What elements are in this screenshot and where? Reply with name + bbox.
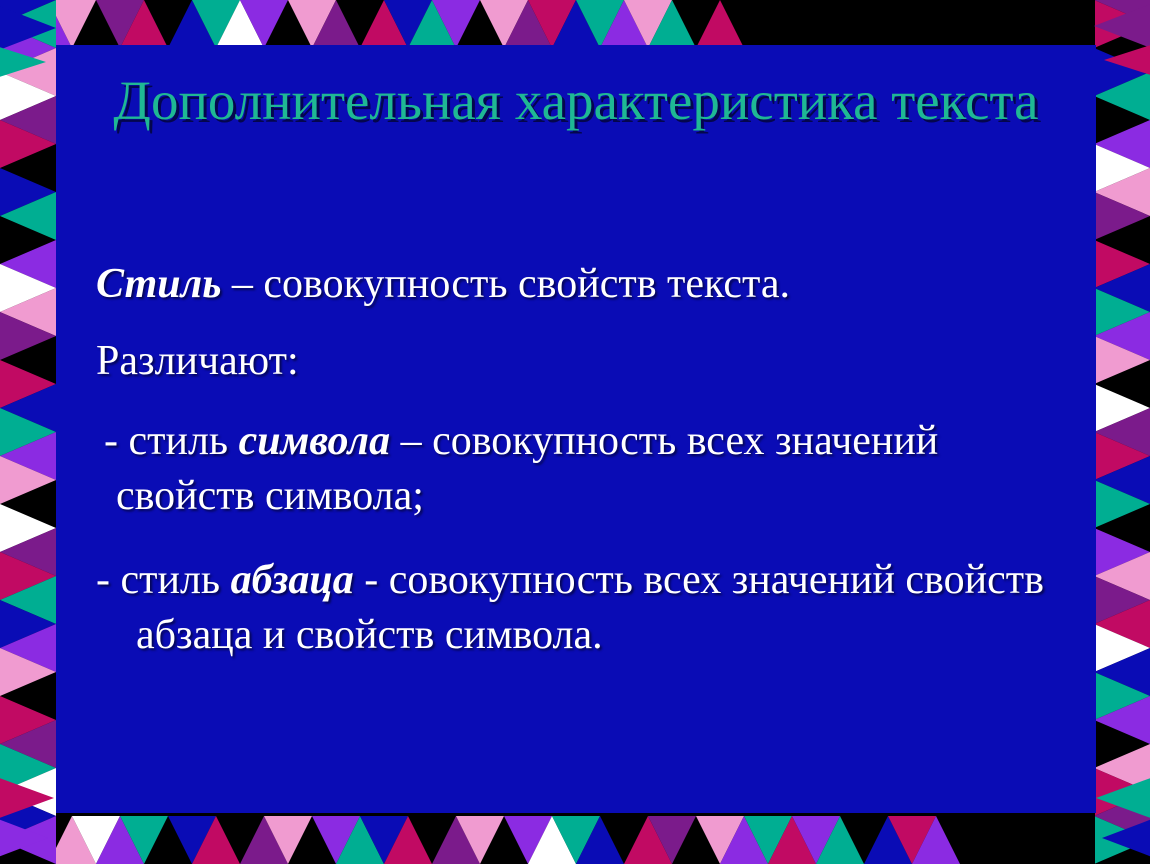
border-triangle-bottom-28	[648, 816, 696, 864]
slide-content-panel: Дополнительная характеристика текста Сти…	[56, 45, 1096, 813]
definition-line: Стиль – совокупность свойств текста.	[96, 257, 1056, 312]
corner-accent-bottom-left	[0, 776, 54, 820]
border-triangle-right-4	[1095, 72, 1150, 120]
border-triangle-bottom-17	[384, 816, 432, 864]
border-band-right	[1095, 0, 1150, 864]
corner-accent-bottom-right	[1096, 776, 1150, 820]
bullet1-prefix: - стиль	[104, 418, 239, 464]
corner-accent-bottom-right-2	[1102, 816, 1150, 860]
border-band-top	[0, 0, 1150, 48]
border-triangle-top-30	[696, 0, 744, 48]
border-triangle-right-21	[1095, 480, 1150, 528]
border-triangle-right-30	[1095, 696, 1150, 744]
border-triangle-bottom-25	[576, 816, 624, 864]
border-triangle-bottom-9	[192, 816, 240, 864]
border-triangle-bottom-12	[264, 816, 312, 864]
bullet1-term: символа	[239, 418, 391, 464]
border-triangle-left-14	[0, 312, 56, 360]
border-triangle-top-19	[432, 0, 480, 48]
border-triangle-left-28	[0, 648, 56, 696]
border-triangle-top-14	[312, 0, 360, 48]
slide-body: Стиль – совокупность свойств текста. Раз…	[56, 257, 1096, 677]
slide-title: Дополнительная характеристика текста	[56, 67, 1096, 134]
bullet2-prefix: - стиль	[96, 557, 231, 603]
border-triangle-top-11	[240, 0, 288, 48]
bullet2-term: абзаца	[231, 557, 354, 603]
presentation-slide: Дополнительная характеристика текста Сти…	[0, 0, 1150, 864]
border-triangle-left-6	[0, 120, 56, 168]
corner-accent-top-right-2	[1104, 42, 1150, 78]
border-triangle-left-9	[0, 192, 56, 240]
border-triangle-right-15	[1095, 336, 1150, 384]
border-band-left	[0, 0, 56, 864]
intro-line: Различают:	[96, 334, 1056, 389]
corner-accent-top-left-2	[0, 44, 46, 80]
list-item-paragraph-style: - стиль абзаца - совокупность всех значе…	[96, 553, 1056, 662]
border-triangle-right-9	[1095, 192, 1150, 240]
border-triangle-top-28	[648, 0, 696, 48]
corner-accent-bottom-left-2	[0, 816, 48, 860]
definition-text: – совокупность свойств текста.	[221, 261, 790, 307]
border-triangle-left-20	[0, 456, 56, 504]
definition-term: Стиль	[96, 261, 221, 307]
border-triangle-top-6	[120, 0, 168, 48]
border-triangle-bottom-35	[816, 816, 864, 864]
border-triangle-bottom-20	[456, 816, 504, 864]
border-triangle-bottom-6	[120, 816, 168, 864]
border-band-bottom	[0, 812, 1150, 864]
list-item-character-style: - стиль символа – совокупность всех знач…	[96, 414, 1056, 523]
border-triangle-bottom-39	[912, 816, 960, 864]
